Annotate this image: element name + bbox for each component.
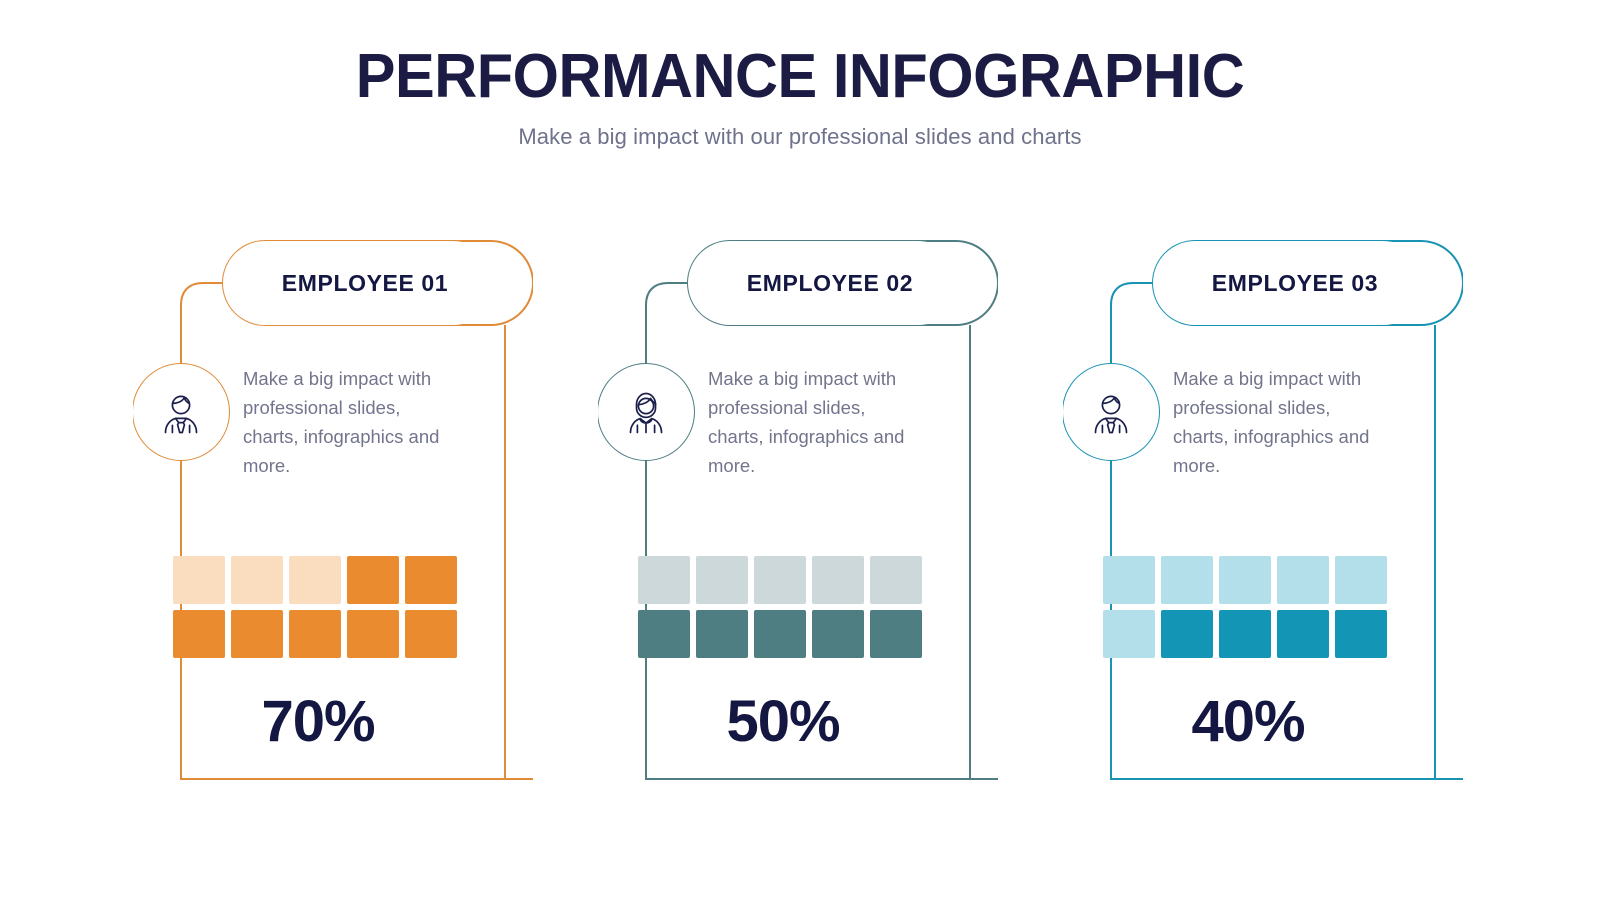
waffle-square <box>1277 610 1329 658</box>
waffle-square <box>173 556 225 604</box>
waffle-square <box>1335 610 1387 658</box>
avatar <box>133 364 229 460</box>
employee-title: EMPLOYEE 02 <box>747 270 913 297</box>
waffle-row <box>1103 610 1393 658</box>
waffle-square <box>289 556 341 604</box>
waffle-square <box>405 610 457 658</box>
page-header: PERFORMANCE INFOGRAPHIC Make a big impac… <box>0 0 1600 150</box>
waffle-square <box>173 610 225 658</box>
employee-card[interactable]: EMPLOYEE 02 Make a big impact with profe… <box>598 236 998 796</box>
percentage-value: 50% <box>638 688 928 755</box>
waffle-square <box>1219 610 1271 658</box>
waffle-square <box>1161 556 1213 604</box>
waffle-square <box>696 610 748 658</box>
waffle-square <box>812 556 864 604</box>
waffle-square <box>1161 610 1213 658</box>
percentage-value: 40% <box>1103 688 1393 755</box>
waffle-row <box>173 610 463 658</box>
waffle-chart <box>638 556 928 664</box>
waffle-square <box>754 556 806 604</box>
avatar <box>1063 364 1159 460</box>
employee-card[interactable]: EMPLOYEE 03 Make a big impact with profe… <box>1063 236 1463 796</box>
employee-title: EMPLOYEE 03 <box>1212 270 1378 297</box>
waffle-square <box>347 610 399 658</box>
waffle-square <box>405 556 457 604</box>
male-avatar-icon <box>150 381 212 443</box>
waffle-square <box>870 556 922 604</box>
waffle-row <box>638 556 928 604</box>
waffle-square <box>638 610 690 658</box>
waffle-square <box>1103 610 1155 658</box>
employee-cards-container: EMPLOYEE 01 Make a big impact with profe… <box>0 236 1600 836</box>
waffle-chart <box>173 556 463 664</box>
waffle-chart <box>1103 556 1393 664</box>
waffle-square <box>289 610 341 658</box>
waffle-square <box>696 556 748 604</box>
waffle-square <box>231 610 283 658</box>
card-description: Make a big impact with professional slid… <box>243 364 453 480</box>
waffle-square <box>231 556 283 604</box>
card-header-pill[interactable]: EMPLOYEE 01 <box>223 241 495 325</box>
male-avatar-icon <box>1080 381 1142 443</box>
waffle-square <box>754 610 806 658</box>
waffle-square <box>1277 556 1329 604</box>
percentage-value: 70% <box>173 688 463 755</box>
waffle-row <box>173 556 463 604</box>
employee-card[interactable]: EMPLOYEE 01 Make a big impact with profe… <box>133 236 533 796</box>
waffle-square <box>347 556 399 604</box>
waffle-row <box>638 610 928 658</box>
female-avatar-icon <box>615 381 677 443</box>
waffle-square <box>1103 556 1155 604</box>
waffle-square <box>1219 556 1271 604</box>
waffle-row <box>1103 556 1393 604</box>
card-header-pill[interactable]: EMPLOYEE 03 <box>1153 241 1425 325</box>
card-header-pill[interactable]: EMPLOYEE 02 <box>688 241 960 325</box>
page-title: PERFORMANCE INFOGRAPHIC <box>32 0 1568 110</box>
employee-title: EMPLOYEE 01 <box>282 270 448 297</box>
avatar <box>598 364 694 460</box>
card-description: Make a big impact with professional slid… <box>1173 364 1383 480</box>
page-subtitle: Make a big impact with our professional … <box>0 110 1600 150</box>
waffle-square <box>1335 556 1387 604</box>
waffle-square <box>638 556 690 604</box>
waffle-square <box>812 610 864 658</box>
card-description: Make a big impact with professional slid… <box>708 364 918 480</box>
waffle-square <box>870 610 922 658</box>
